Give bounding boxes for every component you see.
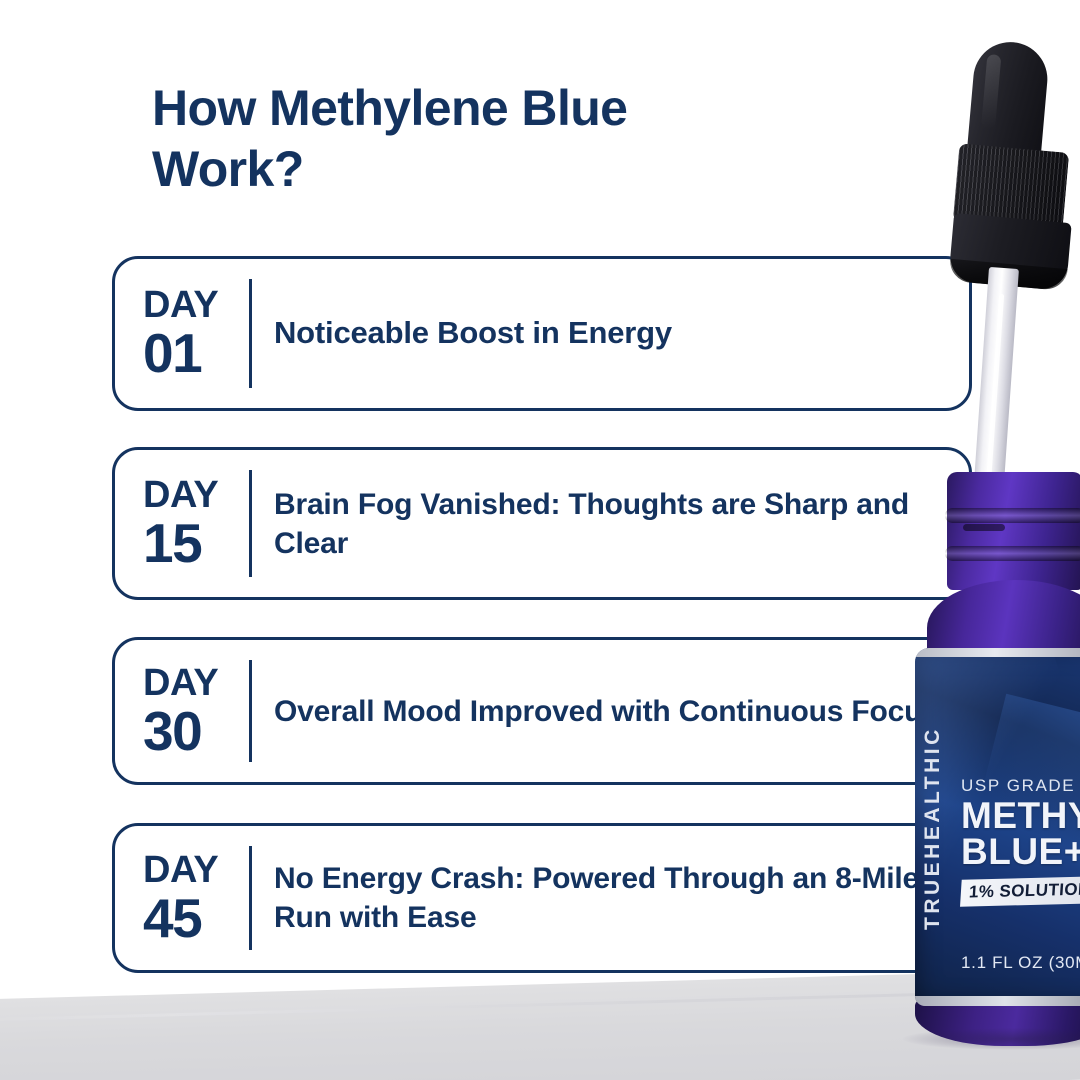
day-number: 01 — [143, 326, 249, 381]
glass-pipette — [971, 267, 1019, 528]
card-description: No Energy Crash: Powered Through an 8-Mi… — [252, 859, 969, 937]
day-word: DAY — [143, 851, 249, 889]
day-word: DAY — [143, 664, 249, 702]
day-badge: DAY 45 — [115, 851, 249, 946]
day-word: DAY — [143, 476, 249, 514]
product-infographic: How Methylene Blue Work? DAY 01 Noticeab… — [0, 0, 1080, 1080]
day-number: 45 — [143, 891, 249, 946]
day-badge: DAY 30 — [115, 664, 249, 759]
dropper-ribbed-collar — [953, 143, 1069, 230]
product-name-line-2: BLUE+ — [961, 834, 1080, 870]
timeline-card[interactable]: DAY 15 Brain Fog Vanished: Thoughts are … — [112, 447, 972, 600]
timeline-card[interactable]: DAY 01 Noticeable Boost in Energy — [112, 256, 972, 411]
page-title-line-2: Work? — [152, 141, 304, 197]
dropper-bulb-icon — [966, 39, 1051, 173]
day-badge: DAY 15 — [115, 476, 249, 571]
card-description: Overall Mood Improved with Continuous Fo… — [252, 692, 969, 731]
timeline-card[interactable]: DAY 30 Overall Mood Improved with Contin… — [112, 637, 972, 785]
surface-shelf — [0, 968, 1080, 1080]
card-description: Noticeable Boost in Energy — [252, 313, 969, 353]
day-word: DAY — [143, 286, 249, 324]
page-title-line-1: How Methylene Blue — [152, 80, 627, 136]
product-name-line-1: METHYLENE — [961, 798, 1080, 834]
concentration-badge: 1% SOLUTION — [960, 876, 1080, 906]
product-grade: USP GRADE — [961, 776, 1080, 796]
day-badge: DAY 01 — [115, 286, 249, 381]
label-content: USP GRADE METHYLENE BLUE+ 1% SOLUTION 1.… — [961, 776, 1080, 973]
day-number: 15 — [143, 516, 249, 571]
page-title: How Methylene Blue Work? — [152, 78, 792, 200]
card-description: Brain Fog Vanished: Thoughts are Sharp a… — [252, 485, 969, 563]
day-number: 30 — [143, 704, 249, 759]
timeline-card[interactable]: DAY 45 No Energy Crash: Powered Through … — [112, 823, 972, 973]
